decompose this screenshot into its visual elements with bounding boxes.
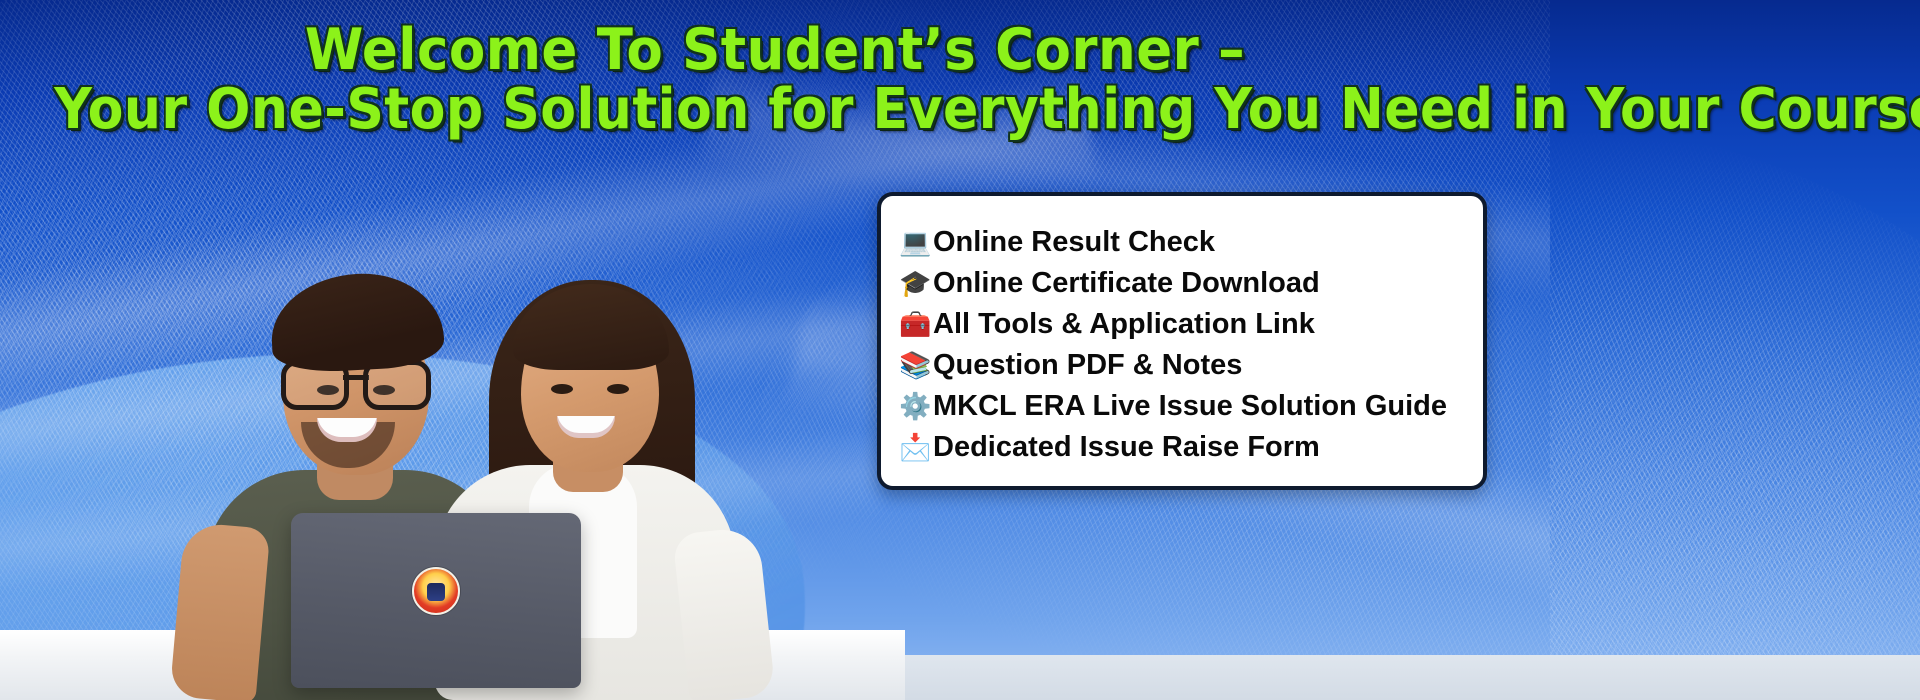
envelope-arrow-icon: 📩 xyxy=(899,435,933,461)
female-student-eye-right xyxy=(607,384,629,394)
laptop-logo-sticker xyxy=(412,567,460,615)
feature-item-all-tools-application-link[interactable]: 🧰 All Tools & Application Link xyxy=(899,304,1483,345)
feature-label: Online Certificate Download xyxy=(933,267,1320,300)
background-right-fill xyxy=(1500,0,1920,700)
laptop xyxy=(291,513,581,688)
graduation-cap-icon: 🎓 xyxy=(899,271,933,297)
feature-label: MKCL ERA Live Issue Solution Guide xyxy=(933,390,1447,423)
books-icon: 📚 xyxy=(899,353,933,379)
laptop-icon: 💻 xyxy=(899,230,933,256)
feature-item-mkcl-era-live-issue-solution-guide[interactable]: ⚙️ MKCL ERA Live Issue Solution Guide xyxy=(899,386,1483,427)
gear-icon: ⚙️ xyxy=(899,394,933,420)
background-wave-right-1 xyxy=(1500,40,1920,700)
male-student-hair xyxy=(269,270,446,375)
feature-list: 💻 Online Result Check 🎓 Online Certifica… xyxy=(899,222,1483,468)
female-student-arm xyxy=(672,526,775,700)
feature-card: 💻 Online Result Check 🎓 Online Certifica… xyxy=(877,192,1487,490)
feature-label: All Tools & Application Link xyxy=(933,308,1315,341)
student-corner-banner: Welcome To Student’s Corner – Your One-S… xyxy=(0,0,1920,700)
feature-item-online-result-check[interactable]: 💻 Online Result Check xyxy=(899,222,1483,263)
feature-label: Online Result Check xyxy=(933,226,1215,259)
male-student-arm xyxy=(170,522,271,700)
feature-item-online-certificate-download[interactable]: 🎓 Online Certificate Download xyxy=(899,263,1483,304)
feature-item-dedicated-issue-raise-form[interactable]: 📩 Dedicated Issue Raise Form xyxy=(899,427,1483,468)
students-photo xyxy=(95,165,785,700)
feature-label: Dedicated Issue Raise Form xyxy=(933,431,1320,464)
background-wave-right-2 xyxy=(1500,254,1920,700)
feature-label: Question PDF & Notes xyxy=(933,349,1242,382)
toolbox-icon: 🧰 xyxy=(899,312,933,338)
feature-item-question-pdf-notes[interactable]: 📚 Question PDF & Notes xyxy=(899,345,1483,386)
female-student-eye-left xyxy=(551,384,573,394)
desk-surface-right xyxy=(905,655,1920,700)
